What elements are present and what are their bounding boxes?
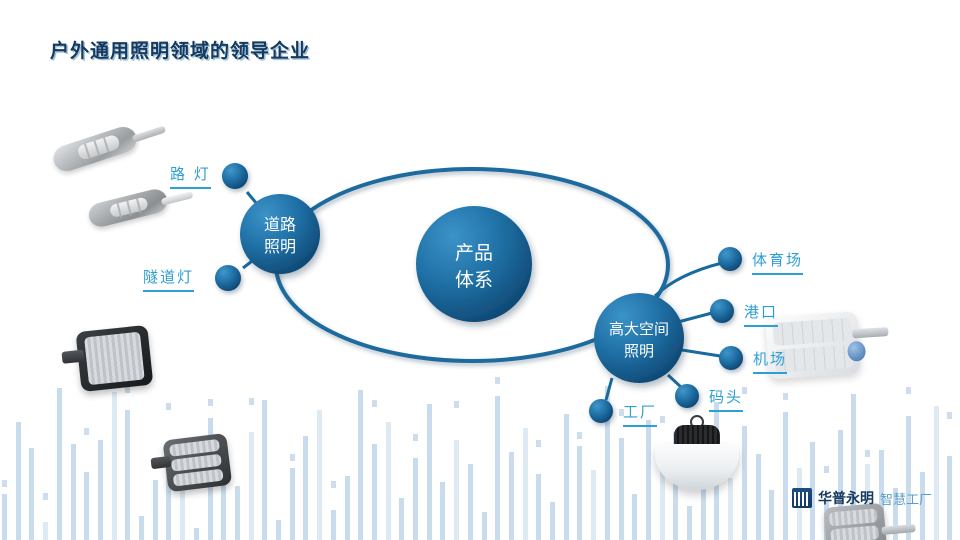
label-factory[interactable]: 工厂: [623, 401, 657, 427]
connector-high-port: [678, 313, 712, 322]
logo-company-name: 华普永明: [818, 488, 874, 508]
connector-high-factory: [606, 378, 612, 400]
node-high-space-lighting-line1: 高大空间: [609, 320, 669, 338]
node-center-line2: 体系: [455, 269, 493, 291]
logo-suffix: 智慧工厂: [880, 489, 932, 508]
leaf-dot-airport[interactable]: [719, 346, 743, 370]
brand-logo: 华普永明 智慧工厂: [792, 488, 932, 508]
node-road-lighting-line1: 道路: [264, 215, 296, 234]
leaf-dot-streetlight[interactable]: [222, 163, 248, 189]
node-high-space-lighting-line2: 照明: [624, 342, 654, 360]
label-tunnellight[interactable]: 隧道灯: [143, 266, 194, 292]
node-road-lighting[interactable]: [240, 194, 320, 274]
huapu-logo-icon: [792, 488, 812, 508]
leaf-dot-dock[interactable]: [675, 384, 699, 408]
leaf-dot-stadium[interactable]: [718, 247, 742, 271]
node-center-product-system[interactable]: [416, 206, 532, 322]
leaf-dot-factory[interactable]: [589, 399, 613, 423]
label-port[interactable]: 港口: [744, 301, 778, 327]
leaf-dot-port[interactable]: [710, 299, 734, 323]
leaf-dot-tunnellight[interactable]: [215, 265, 241, 291]
node-high-space-lighting[interactable]: [594, 293, 684, 383]
connector-high-airport: [682, 350, 720, 356]
node-center-line1: 产品: [455, 242, 493, 264]
label-streetlight[interactable]: 路 灯: [170, 163, 211, 189]
label-airport[interactable]: 机场: [753, 348, 787, 374]
connector-high-dock: [668, 375, 682, 388]
node-road-lighting-line2: 照明: [264, 237, 296, 256]
label-stadium[interactable]: 体育场: [752, 249, 803, 275]
label-dock[interactable]: 码头: [709, 386, 743, 412]
slide-canvas: 户外通用照明领域的领导企业: [0, 0, 960, 540]
